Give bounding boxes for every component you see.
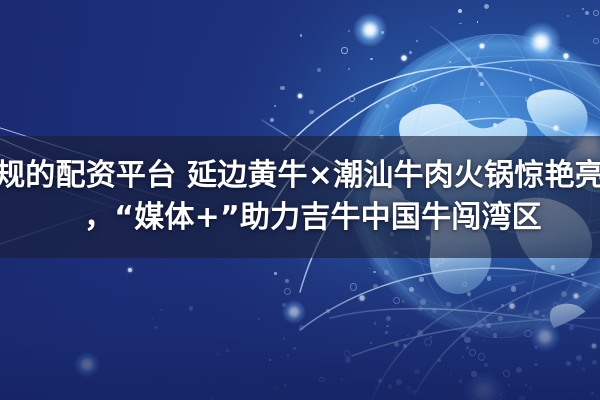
news-banner: 正规的配资平台 延边黄牛×潮汕牛肉火锅惊艳亮相 ，“媒体+”助力吉牛中国牛闯湾区 bbox=[0, 0, 600, 400]
headline-line-2: ，“媒体+”助力吉牛中国牛闯湾区 bbox=[58, 198, 542, 238]
headline: 正规的配资平台 延边黄牛×潮汕牛肉火锅惊艳亮相 ，“媒体+”助力吉牛中国牛闯湾区 bbox=[0, 136, 600, 258]
headline-line-1: 正规的配资平台 延边黄牛×潮汕牛肉火锅惊艳亮相 bbox=[0, 156, 600, 196]
